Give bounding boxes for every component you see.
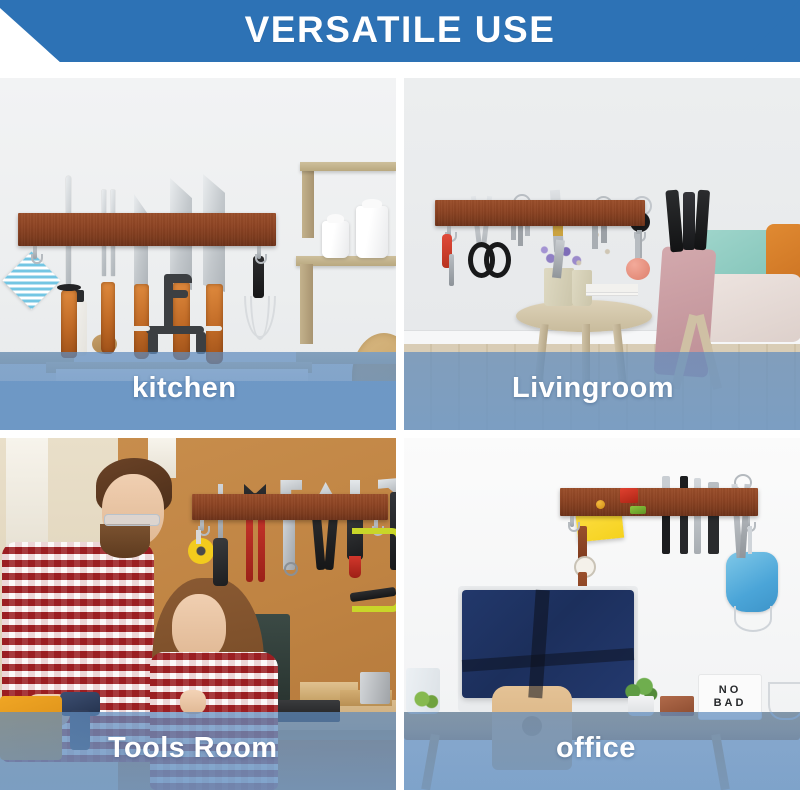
window (6, 438, 48, 558)
office-hook-left (570, 516, 574, 527)
sign-line-1: NO (719, 685, 742, 696)
face-mask (726, 552, 778, 612)
banner-title: VERSATILE USE (245, 11, 556, 48)
tape-measure-blade (196, 530, 201, 544)
magnetic-rail-tools-main (192, 494, 388, 520)
livingroom-label-wash (404, 352, 800, 430)
rail-hook-right (257, 246, 261, 259)
panel-livingroom[interactable]: Livingroom (404, 78, 800, 430)
mask-ear-loop (734, 606, 772, 632)
pom-pom-keychain-strap (635, 234, 640, 260)
office-label-wash (404, 712, 800, 790)
header-banner: VERSATILE USE (0, 0, 800, 62)
pin-dot (596, 500, 605, 509)
tape-measure (188, 538, 214, 564)
kitchen-scene: kitchen (0, 78, 396, 430)
rail-hook-left (33, 246, 37, 259)
green-clip (630, 506, 646, 514)
tools-room-scene: Tools Room (0, 438, 396, 790)
key-small (449, 254, 454, 286)
office-scene: Sehr empfehlenswert! (404, 438, 800, 790)
kitchen-label-wash (0, 352, 396, 430)
mask-strap (748, 526, 752, 554)
metal-pot (360, 672, 390, 704)
sign-line-2: BAD (714, 698, 747, 709)
panel-kitchen[interactable]: kitchen (0, 78, 396, 430)
shelf-bracket-lower (300, 264, 313, 344)
vase-greens (410, 688, 440, 710)
card-holder-1 (665, 190, 683, 253)
magnetic-rail-livingroom (435, 200, 645, 226)
canister-small (322, 221, 349, 258)
safety-glasses (104, 514, 160, 526)
magnetic-rail-kitchen (18, 213, 276, 246)
panel-tools-room[interactable]: Tools Room (0, 438, 396, 790)
livingroom-scene: Livingroom (404, 78, 800, 430)
tools-room-label-wash (0, 712, 396, 790)
girl-head (172, 594, 226, 660)
panel-grid: kitchen (0, 78, 800, 800)
card-holder-2 (683, 192, 695, 250)
shelf-bracket-upper (302, 164, 314, 238)
book-stack (586, 284, 638, 292)
panel-office[interactable]: Sehr empfehlenswert! (404, 438, 800, 790)
magnetic-rail-office (560, 488, 758, 516)
pom-pom-keychain-ball (626, 258, 650, 280)
wall-shelf-upper (300, 162, 396, 171)
bulldog-clip (620, 488, 638, 503)
man-beard (100, 524, 150, 558)
canister-large (356, 206, 388, 258)
girl-hand (180, 690, 206, 714)
